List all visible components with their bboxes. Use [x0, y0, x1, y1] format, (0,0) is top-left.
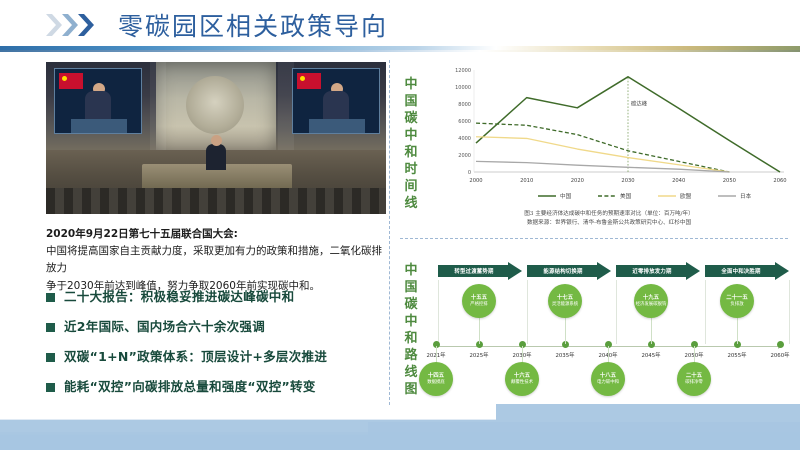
milestone-desc: 碳排净零 — [685, 380, 703, 386]
bullet-text: 近2年国际、国内场合六十余次强调 — [64, 319, 265, 334]
caption-line-2: 数据来源：世界银行、清华-布鲁金斯公共政策研究中心、红杉中国 — [430, 219, 788, 228]
svg-text:4000: 4000 — [458, 136, 471, 142]
timeline-marker[interactable] — [777, 341, 784, 348]
header-rule-secondary — [0, 50, 800, 52]
milestone-plan: 十九五 — [643, 295, 659, 302]
svg-text:2040: 2040 — [672, 178, 685, 184]
phase-label: 近零排放发力期 — [616, 262, 700, 280]
timeline-year-label: 2035年 — [555, 351, 574, 359]
page-title: 零碳园区相关政策导向 — [118, 7, 388, 43]
svg-text:日本: 日本 — [740, 192, 752, 200]
lower-milestone[interactable]: 十六五颠覆性技术 — [505, 362, 539, 396]
phase-guide-line — [438, 280, 439, 344]
list-item: 双碳“1+N”政策体系：顶层设计+多层次推进 — [46, 349, 386, 364]
horizontal-divider — [400, 238, 788, 239]
milestone-desc: 严格控排 — [470, 302, 488, 308]
phase-label: 全面中和决胜期 — [705, 262, 789, 280]
milestone-plan: 十四五 — [428, 373, 444, 380]
phase-guide-line — [705, 280, 706, 344]
milestone-plan: 十五五 — [471, 295, 487, 302]
milestone-desc: 电力碳中和 — [597, 380, 619, 386]
milestone-plan: 十六五 — [514, 373, 530, 380]
svg-text:2060: 2060 — [773, 178, 786, 184]
svg-text:2010: 2010 — [520, 178, 533, 184]
svg-text:0: 0 — [468, 170, 471, 176]
svg-text:碳达峰: 碳达峰 — [631, 100, 648, 108]
milestone-plan: 十八五 — [600, 373, 616, 380]
carbon-neutral-roadmap: 转型过渡蓄势期能源结构切换期近零排放发力期全面中和决胜期 2021年2025年2… — [428, 258, 786, 403]
bullet-square-icon — [46, 353, 55, 362]
screen-right — [292, 68, 380, 134]
milestone-stem — [479, 314, 480, 344]
footer-band-1 — [0, 404, 800, 450]
milestone-desc: 数据摸底 — [427, 380, 445, 386]
milestone-stem — [737, 314, 738, 344]
bullet-list: 二十大报告：积极稳妥推进碳达峰碳中和 近2年国际、国内场合六十余次强调 双碳“1… — [46, 289, 386, 409]
phase-arrow-2[interactable]: 能源结构切换期 — [527, 262, 611, 280]
svg-text:2000: 2000 — [469, 178, 482, 184]
svg-text:2030: 2030 — [621, 178, 634, 184]
svg-text:12000: 12000 — [455, 68, 471, 74]
phase-guide-line — [527, 280, 528, 344]
svg-text:6000: 6000 — [458, 119, 471, 125]
milestone-desc: 负排放 — [730, 302, 743, 308]
bullet-square-icon — [46, 323, 55, 332]
list-item: 近2年国际、国内场合六十余次强调 — [46, 319, 386, 334]
bullet-text: 能耗“双控”向碳排放总量和强度“双控”转变 — [64, 379, 316, 394]
phase-arrow-row: 转型过渡蓄势期能源结构切换期近零排放发力期全面中和决胜期 — [428, 262, 786, 280]
lede-heading: 2020年9月22日第七十五届联合国大会: — [46, 226, 382, 242]
lower-milestone[interactable]: 十四五数据摸底 — [419, 362, 453, 396]
phase-guide-line — [616, 280, 617, 344]
phase-arrow-4[interactable]: 全面中和决胜期 — [705, 262, 789, 280]
list-item: 能耗“双控”向碳排放总量和强度“双控”转变 — [46, 379, 386, 394]
phase-label: 能源结构切换期 — [527, 262, 611, 280]
milestone-stem — [651, 314, 652, 344]
milestone-desc: 颠覆性技术 — [511, 380, 533, 386]
phase-arrow-3[interactable]: 近零排放发力期 — [616, 262, 700, 280]
svg-text:欧盟: 欧盟 — [680, 192, 692, 200]
lede-line-1: 中国将提高国家自主贡献力度，采取更加有力的政策和措施，二氧化碳排放力 — [46, 243, 382, 277]
phase-arrow-1[interactable]: 转型过渡蓄势期 — [438, 262, 522, 280]
milestone-stem — [565, 314, 566, 344]
screen-left — [54, 68, 142, 134]
lower-milestone[interactable]: 十八五电力碳中和 — [591, 362, 625, 396]
timeline-year-label: 2055年 — [727, 351, 746, 359]
timeline-year-label: 2060年 — [770, 351, 789, 359]
milestone-desc: 经济发展碳脱钩 — [636, 302, 667, 308]
vertical-divider — [389, 60, 390, 405]
chart-caption: 图3 主要经济体达成碳中和任务的预期速率对比（单位：百万吨/年） 数据来源：世界… — [430, 210, 788, 228]
upper-milestone[interactable]: 十五五严格控排 — [462, 284, 496, 318]
svg-text:10000: 10000 — [455, 85, 471, 91]
svg-text:8000: 8000 — [458, 102, 471, 108]
svg-text:2000: 2000 — [458, 153, 471, 159]
svg-text:2050: 2050 — [723, 178, 736, 184]
double-chevron-right-icon — [46, 12, 94, 38]
upper-milestone[interactable]: 十七五灵活能源系统 — [548, 284, 582, 318]
phase-label: 转型过渡蓄势期 — [438, 262, 522, 280]
svg-text:中国: 中国 — [560, 192, 572, 200]
phase-guide-line — [789, 280, 790, 344]
lede-paragraph: 2020年9月22日第七十五届联合国大会: 中国将提高国家自主贡献力度，采取更加… — [46, 226, 382, 295]
bullet-text: 二十大报告：积极稳妥推进碳达峰碳中和 — [64, 289, 294, 304]
timeline-year-label: 2045年 — [641, 351, 660, 359]
svg-text:2020: 2020 — [571, 178, 584, 184]
bullet-text: 双碳“1+N”政策体系：顶层设计+多层次推进 — [64, 349, 327, 364]
milestone-plan: 十七五 — [557, 295, 573, 302]
milestone-desc: 灵活能源系统 — [552, 302, 578, 308]
slide-header: 零碳园区相关政策导向 — [0, 0, 800, 52]
upper-milestone[interactable]: 二十一五负排放 — [720, 284, 754, 318]
bullet-square-icon — [46, 383, 55, 392]
milestone-plan: 二十一五 — [726, 295, 748, 302]
bullet-square-icon — [46, 293, 55, 302]
svg-text:美国: 美国 — [620, 192, 632, 200]
timeline-year-label: 2025年 — [469, 351, 488, 359]
milestone-plan: 二十五 — [686, 373, 702, 380]
lower-milestone[interactable]: 二十五碳排净零 — [677, 362, 711, 396]
un-assembly-photo — [46, 62, 386, 214]
upper-milestone[interactable]: 十九五经济发展碳脱钩 — [634, 284, 668, 318]
carbon-neutral-timeline-chart: 0200040006000800010000120002000201020202… — [430, 60, 788, 210]
chart-vertical-label: 中国碳中和时间线 — [400, 76, 422, 212]
caption-line-1: 图3 主要经济体达成碳中和任务的预期速率对比（单位：百万吨/年） — [430, 210, 788, 219]
list-item: 二十大报告：积极稳妥推进碳达峰碳中和 — [46, 289, 386, 304]
